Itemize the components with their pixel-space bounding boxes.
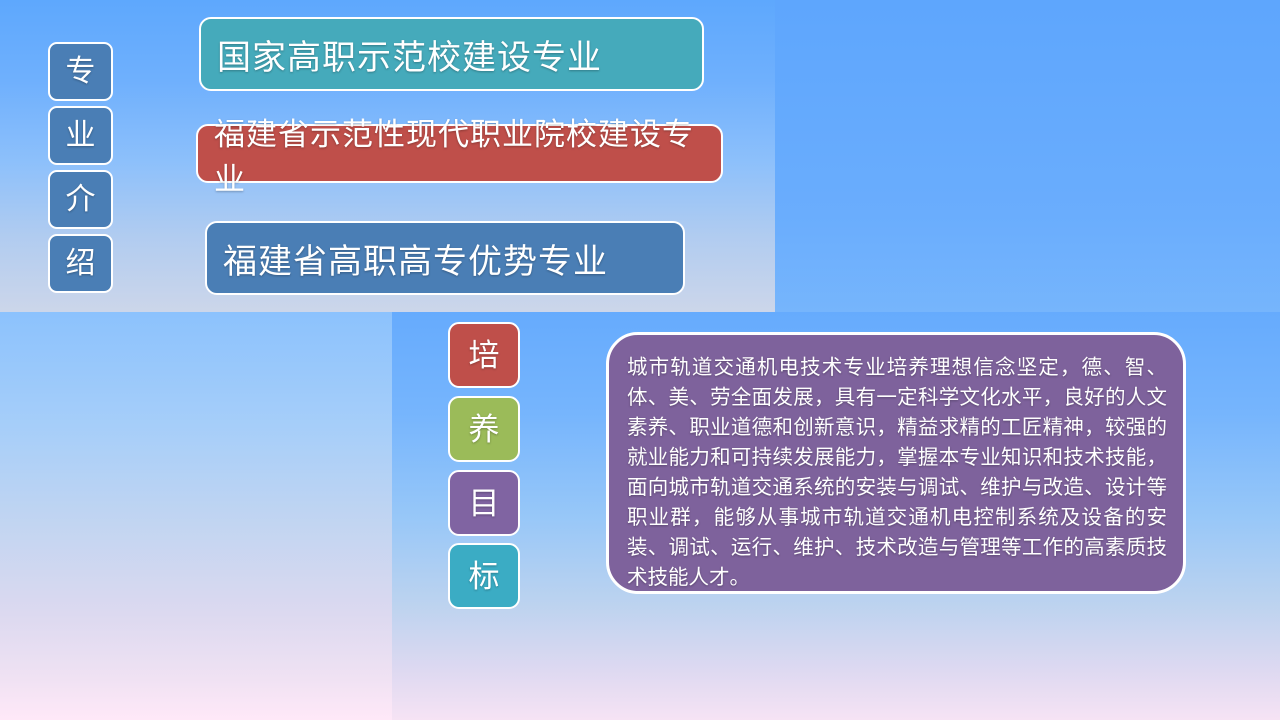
section-label-char-text: 专 bbox=[66, 57, 96, 87]
section-label-char-shao: 绍 bbox=[48, 234, 113, 293]
goal-label-char-text: 养 bbox=[469, 414, 500, 445]
goal-label-char-text: 目 bbox=[469, 488, 500, 519]
goal-label-char-pei: 培 bbox=[448, 322, 520, 388]
goal-label-char-text: 培 bbox=[469, 340, 500, 371]
section-label-char-text: 业 bbox=[66, 121, 96, 151]
section-label-char-text: 绍 bbox=[66, 249, 96, 279]
banner-label: 福建省高职高专优势专业 bbox=[223, 234, 608, 283]
slide-canvas: 专 业 介 绍 国家高职示范校建设专业 福建省示范性现代职业院校建设专业 福建省… bbox=[0, 0, 1280, 720]
goal-label-char-biao: 标 bbox=[448, 543, 520, 609]
section-label-char-zhuan: 专 bbox=[48, 42, 113, 101]
goal-label-char-yang: 养 bbox=[448, 396, 520, 462]
background-panel-bottom-left bbox=[0, 312, 392, 720]
banner-national-demonstration[interactable]: 国家高职示范校建设专业 bbox=[199, 17, 704, 91]
banner-label: 国家高职示范校建设专业 bbox=[217, 30, 602, 79]
training-goal-text: 城市轨道交通机电技术专业培养理想信念坚定，德、智、体、美、劳全面发展，具有一定科… bbox=[627, 353, 1167, 593]
banner-fujian-advantage-major[interactable]: 福建省高职高专优势专业 bbox=[205, 221, 685, 295]
section-label-char-text: 介 bbox=[66, 185, 96, 215]
banner-fujian-modern-vocational[interactable]: 福建省示范性现代职业院校建设专业 bbox=[196, 124, 723, 183]
goal-label-char-mu: 目 bbox=[448, 470, 520, 536]
section-label-char-ye: 业 bbox=[48, 106, 113, 165]
section-label-char-jie: 介 bbox=[48, 170, 113, 229]
goal-label-char-text: 标 bbox=[469, 561, 500, 592]
banner-label: 福建省示范性现代职业院校建设专业 bbox=[214, 109, 721, 199]
training-goal-card: 城市轨道交通机电技术专业培养理想信念坚定，德、智、体、美、劳全面发展，具有一定科… bbox=[606, 332, 1186, 594]
